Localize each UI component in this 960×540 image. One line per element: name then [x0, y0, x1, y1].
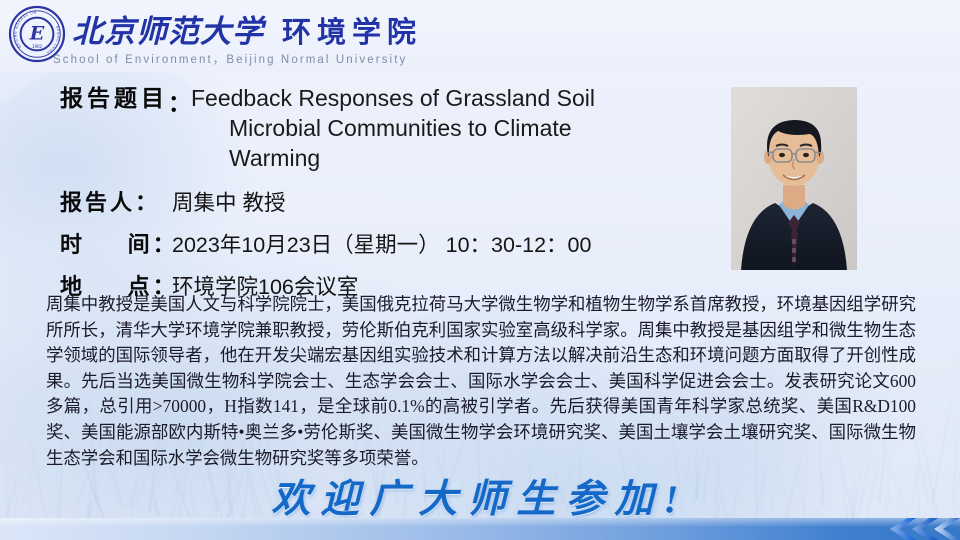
brand-subtitle-english: School of Environment，Beijing Normal Uni…: [53, 51, 407, 67]
svg-text:1902: 1902: [32, 44, 43, 49]
bottom-accent-bar: [0, 518, 960, 540]
title-row: 报告题目 ： Feedback Responses of Grassland S…: [0, 84, 720, 174]
time-row: 时 间： 2023年10月23日（星期一） 10：30-12：00: [0, 232, 720, 260]
seminar-poster: BEIJING NORMAL UNIVERSITY BEIJING CHINA …: [0, 0, 960, 540]
speaker-value: 周集中 教授: [172, 190, 285, 218]
brand-university: 北京师范大学: [72, 14, 264, 49]
title-colon: ：: [168, 84, 191, 118]
speaker-portrait-photo: [731, 87, 857, 270]
speaker-label: 报告人：: [60, 190, 172, 218]
brand-school: 环境学院: [282, 17, 422, 49]
title-label: 报告题目: [60, 84, 168, 114]
time-label: 时 间：: [60, 232, 172, 260]
brand-title: 北京师范大学环境学院: [72, 6, 422, 51]
title-line-2: Microbial Communities to Climate Warming: [229, 114, 661, 174]
bottom-bar-gloss: [0, 518, 960, 527]
welcome-message: 欢迎广大师生参加!: [0, 468, 960, 524]
header-band: BEIJING NORMAL UNIVERSITY BEIJING CHINA …: [0, 0, 960, 72]
speaker-row: 报告人： 周集中 教授: [0, 190, 720, 218]
speaker-biography: 周集中教授是美国人文与科学院院士，美国俄克拉荷马大学微生物学和植物生物学系首席教…: [46, 292, 916, 471]
title-value: Feedback Responses of Grassland Soil Mic…: [191, 84, 661, 174]
event-info-block: 报告题目 ： Feedback Responses of Grassland S…: [0, 84, 720, 302]
svg-text:E: E: [29, 23, 45, 45]
time-value: 2023年10月23日（星期一） 10：30-12：00: [172, 232, 591, 260]
title-line-1: Feedback Responses of Grassland Soil: [191, 85, 595, 111]
